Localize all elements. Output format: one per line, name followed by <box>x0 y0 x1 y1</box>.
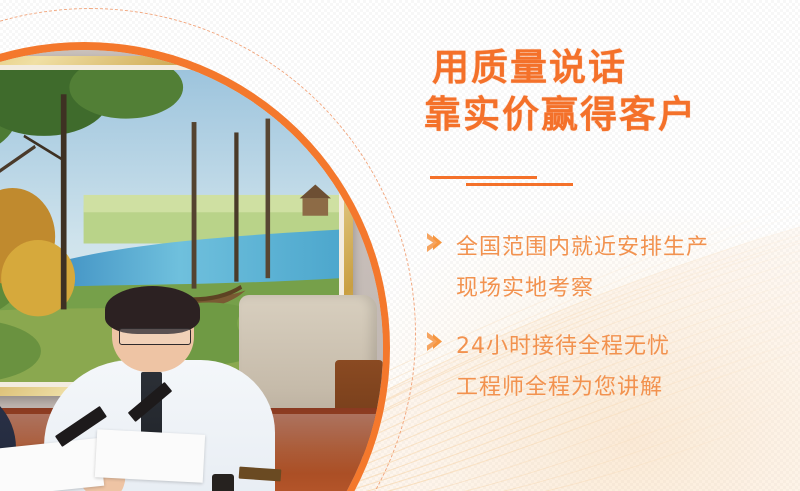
person-b-glasses <box>119 328 191 345</box>
document-sheet <box>0 438 104 491</box>
list-item-text: 24小时接待全程无忧 工程师全程为您讲解 <box>456 327 800 408</box>
photo-scene <box>0 50 383 491</box>
bullet-2-line-2: 工程师全程为您讲解 <box>456 368 800 409</box>
bullet-2-line-1: 24小时接待全程无忧 <box>456 327 800 368</box>
person-b-watch <box>212 474 235 491</box>
list-item: 24小时接待全程无忧 工程师全程为您讲解 <box>424 327 800 408</box>
headline-line-1: 用质量说话 <box>432 44 800 91</box>
list-item: 全国范围内就近安排生产 现场实地考察 <box>424 228 800 309</box>
photo-circle-frame <box>0 42 390 491</box>
headline-block: 用质量说话 靠实价赢得客户 <box>424 44 800 139</box>
content-panel: 用质量说话 靠实价赢得客户 全国范围内就近安排生产 现场 <box>424 0 800 491</box>
document-sheet <box>95 429 205 482</box>
promo-banner: 用质量说话 靠实价赢得客户 全国范围内就近安排生产 现场 <box>0 0 800 491</box>
bullet-1-line-1: 全国范围内就近安排生产 <box>456 228 800 269</box>
chevron-right-icon <box>424 230 446 256</box>
headline-line-2: 靠实价赢得客户 <box>424 91 800 138</box>
feature-list: 全国范围内就近安排生产 现场实地考察 24小时接待全程无忧 工 <box>424 228 800 427</box>
photo-image <box>0 50 383 491</box>
person-b-hair <box>105 286 200 334</box>
divider-bar-bottom <box>466 183 573 186</box>
chevron-right-icon <box>424 329 446 355</box>
list-item-text: 全国范围内就近安排生产 现场实地考察 <box>456 228 800 309</box>
divider <box>430 176 630 192</box>
divider-bar-top <box>430 176 537 179</box>
bullet-1-line-2: 现场实地考察 <box>456 269 800 310</box>
